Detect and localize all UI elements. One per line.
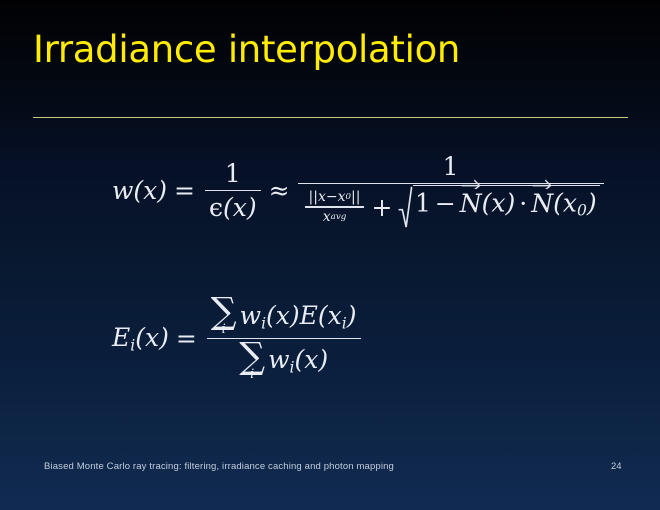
page-number: 24: [611, 461, 622, 472]
formula1-frac1-bar: [205, 190, 261, 191]
x-avg-base: x: [323, 209, 331, 225]
formula1-main-fraction: 1 ||x−x0|| xavg +: [298, 152, 604, 229]
numerator-E-symbol: E: [300, 301, 318, 330]
formula1-frac1-numerator: 1: [221, 159, 245, 188]
formula-weight-function: w(x) = 1 ϵ(x) ≈ 1 ||x−x0|| xavg: [112, 152, 607, 229]
radical-sign-icon: [398, 185, 413, 229]
formula2-denominator: ∑ i wi(x): [235, 341, 332, 381]
summation-numerator: ∑ i: [211, 296, 237, 336]
formula1-distance-denominator: xavg: [319, 209, 351, 225]
formula2-lhs: Ei(x): [112, 323, 169, 354]
formula2-fraction: ∑ i wi(x)E(xi) ∑ i wi(x): [207, 296, 361, 381]
N-symbol-2: N: [531, 189, 553, 218]
numerator-E-arg-open: (x: [318, 301, 342, 330]
radicand-minus: −: [435, 189, 456, 218]
distance-norm-open: ||x−x: [309, 189, 346, 205]
denominator-weight: wi(x): [268, 345, 328, 376]
formula1-square-root: 1−N(x)·N(x0): [398, 185, 599, 229]
numerator-w-argument: (x): [266, 301, 300, 330]
formula1-frac1-denominator: ϵ(x): [205, 193, 261, 222]
N2-arg-open: (x: [553, 189, 577, 218]
slide-canvas: Irradiance interpolation w(x) = 1 ϵ(x) ≈…: [0, 0, 660, 510]
formula1-frac2-numerator: 1: [439, 152, 463, 181]
formula1-equals: =: [174, 176, 195, 205]
numerator-irradiance: E(xi): [300, 301, 357, 332]
formula1-lhs: w(x): [112, 176, 167, 205]
formula1-fraction-epsilon: 1 ϵ(x): [205, 159, 261, 221]
denominator-w-argument: (x): [294, 345, 328, 374]
normal-vector-x: N: [460, 187, 482, 217]
sum-index-denominator: i: [250, 370, 254, 381]
epsilon-symbol: ϵ: [209, 193, 223, 222]
N2-arg-sub: 0: [577, 202, 587, 220]
formula1-distance-numerator: ||x−x0||: [305, 189, 365, 205]
formula-irradiance-interpolation: Ei(x) = ∑ i wi(x)E(xi) ∑ i wi(x): [112, 296, 364, 381]
formula1-frac2-denominator: ||x−x0|| xavg + 1−N(x)·N(x0): [298, 185, 604, 229]
distance-norm-close: ||: [351, 189, 360, 205]
x-avg-sub: avg: [331, 212, 347, 222]
page-title: Irradiance interpolation: [33, 28, 633, 72]
formula1-distance-bar: [305, 206, 365, 207]
N-symbol-1: N: [460, 189, 482, 218]
formula1-radicand: 1−N(x)·N(x0): [413, 185, 600, 229]
formula2-E-symbol: E: [112, 323, 130, 352]
numerator-w-symbol: w: [240, 301, 261, 330]
normal-vector-x0: N: [531, 187, 553, 217]
numerator-E-arg-close: ): [347, 301, 357, 330]
numerator-weight: wi(x): [240, 301, 300, 332]
formula1-approx: ≈: [269, 176, 290, 205]
denominator-w-symbol: w: [268, 345, 289, 374]
radicand-one: 1: [415, 189, 431, 218]
N1-argument: (x): [482, 189, 516, 218]
formula1-plus: +: [371, 193, 392, 222]
formula2-numerator: ∑ i wi(x)E(xi): [207, 296, 361, 336]
formula2-fraction-bar: [207, 338, 361, 339]
footer-title: Biased Monte Carlo ray tracing: filterin…: [44, 461, 394, 472]
summation-denominator: ∑ i: [239, 341, 265, 381]
N2-arg-close: ): [587, 189, 597, 218]
formula2-E-argument: (x): [135, 323, 169, 352]
formula1-distance-ratio: ||x−x0|| xavg: [305, 189, 365, 225]
title-divider: [33, 117, 628, 118]
formula1-frac2-bar: [298, 183, 604, 184]
formula1-frac1-den-arg: (x): [223, 193, 257, 222]
dot-product-operator: ·: [519, 189, 527, 218]
formula2-equals: =: [176, 324, 197, 353]
sum-index-numerator: i: [222, 325, 226, 336]
